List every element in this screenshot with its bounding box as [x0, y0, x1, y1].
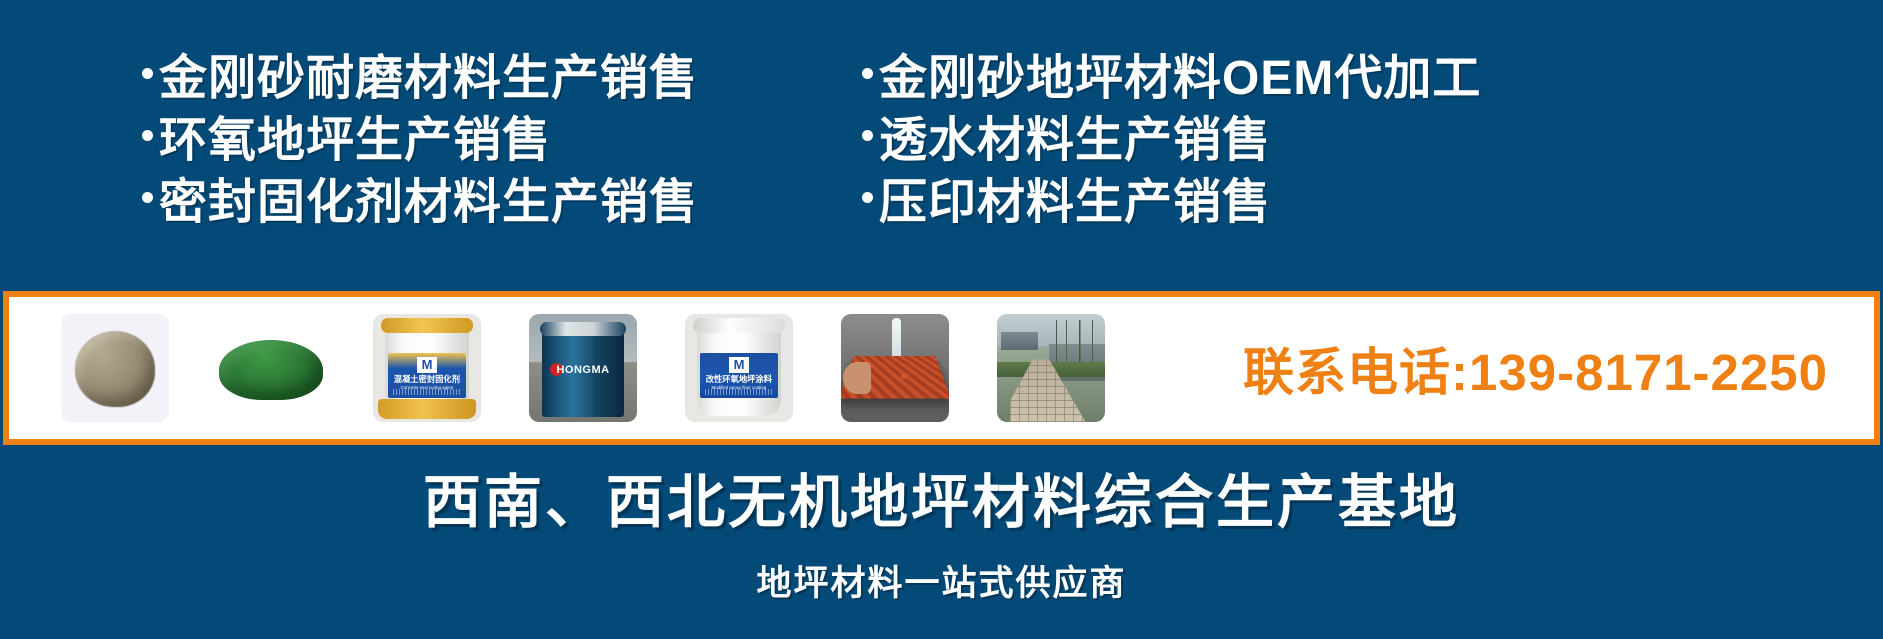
bullet-dot-icon [862, 192, 873, 203]
feature-bullets-section: 金刚砂耐磨材料生产销售 环氧地坪生产销售 密封固化剂材料生产销售 金刚砂地坪材料… [0, 0, 1883, 288]
bullet-column-right: 金刚砂地坪材料OEM代加工 透水材料生产销售 压印材料生产销售 [862, 42, 1481, 228]
bullet-item: 密封固化剂材料生产销售 [142, 166, 698, 228]
pail-rim [693, 318, 786, 333]
product-strip: M 混凝土密封固化剂 Concrete seal curing agent HO… [3, 291, 1880, 445]
pail-label-cn: 混凝土密封固化剂 [391, 374, 463, 383]
pail-label-fineprint [705, 389, 773, 395]
product-thumbnail-gallery: M 混凝土密封固化剂 Concrete seal curing agent HO… [61, 314, 1105, 422]
bullet-label: 环氧地坪生产销售 [159, 100, 551, 170]
bullet-item: 金刚砂耐磨材料生产销售 [142, 42, 698, 104]
bullet-column-left: 金刚砂耐磨材料生产销售 环氧地坪生产销售 密封固化剂材料生产销售 [142, 42, 698, 228]
pail-label-fineprint [393, 389, 461, 395]
bullet-label: 金刚砂耐磨材料生产销售 [159, 38, 698, 108]
pail-label: M 改性环氧地坪涂料 Modified epoxy floor coating [700, 353, 778, 398]
bullet-dot-icon [142, 68, 153, 79]
product-thumb-grey-powder [61, 314, 169, 422]
bullet-item: 金刚砂地坪材料OEM代加工 [862, 42, 1481, 104]
bullet-item: 透水材料生产销售 [862, 104, 1481, 166]
promo-banner: 金刚砂耐磨材料生产销售 环氧地坪生产销售 密封固化剂材料生产销售 金刚砂地坪材料… [0, 0, 1883, 639]
bullet-item: 环氧地坪生产销售 [142, 104, 698, 166]
pail-base [378, 399, 475, 418]
pail-rim [381, 318, 474, 333]
product-thumb-permeable-slab [841, 314, 949, 422]
headline: 西南、西北无机地坪材料综合生产基地 [0, 455, 1883, 539]
product-thumb-green-powder [217, 314, 325, 422]
product-thumb-stamped-pathway [997, 314, 1105, 422]
pail-label-cn: 改性环氧地坪涂料 [703, 374, 775, 383]
brand-logo-m: M [729, 357, 749, 373]
pail-label: M 混凝土密封固化剂 Concrete seal curing agent [388, 353, 466, 398]
drum-brand-text: HONGMA [529, 364, 637, 376]
product-thumb-sealer-pail: M 混凝土密封固化剂 Concrete seal curing agent [373, 314, 481, 422]
brand-logo-m: M [417, 357, 437, 373]
buildings [1001, 332, 1038, 349]
bullet-dot-icon [862, 130, 873, 141]
bullet-label: 透水材料生产销售 [879, 100, 1271, 170]
hand [843, 362, 871, 394]
bullet-dot-icon [142, 192, 153, 203]
contact-phone[interactable]: 联系电话:139-8171-2250 [1243, 331, 1828, 405]
product-thumb-epoxy-pail: M 改性环氧地坪涂料 Modified epoxy floor coating [685, 314, 793, 422]
subheadline: 地坪材料一站式供应商 [0, 555, 1883, 606]
bullet-dot-icon [862, 68, 873, 79]
bullet-item: 压印材料生产销售 [862, 166, 1481, 228]
bullet-dot-icon [142, 130, 153, 141]
bullet-label: 金刚砂地坪材料OEM代加工 [879, 38, 1481, 108]
product-thumb-hongma-drum: HONGMA [529, 314, 637, 422]
bullet-label: 密封固化剂材料生产销售 [159, 162, 698, 232]
bullet-label: 压印材料生产销售 [879, 162, 1271, 232]
drum-lid [540, 322, 626, 336]
